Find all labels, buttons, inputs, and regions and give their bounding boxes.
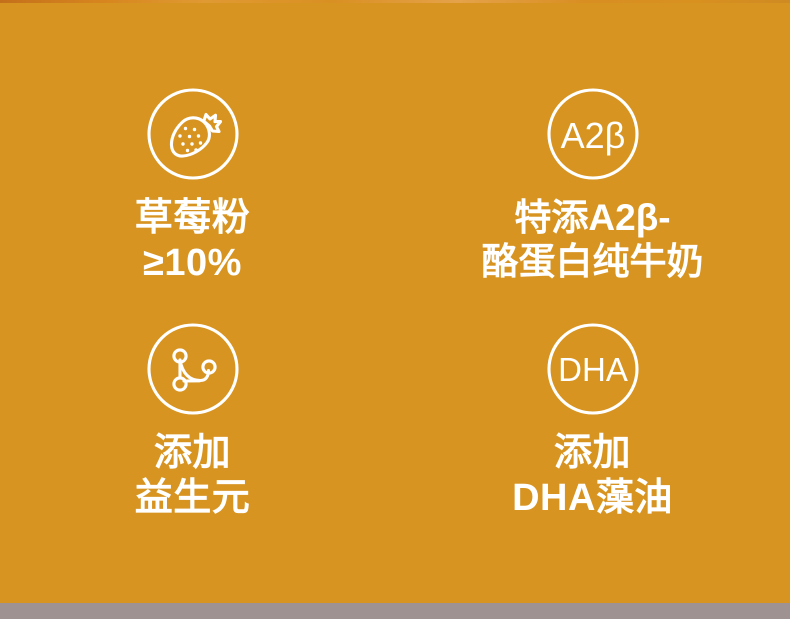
feature-line: DHA藻油 [512, 476, 673, 521]
product-feature-poster: 草莓粉 ≥10% A2β 特添A2β- 酪蛋白纯牛奶 [0, 0, 790, 619]
feature-line: 酪蛋白纯牛奶 [482, 240, 704, 284]
feature-line: ≥10% [135, 241, 251, 286]
a2-beta-icon-text: A2β [560, 115, 625, 156]
feature-line: 草莓粉 [135, 196, 251, 241]
feature-card-strawberry-powder: 草莓粉 ≥10% [0, 88, 390, 323]
dha-icon-text: DHA [558, 351, 628, 388]
feature-card-a2-beta-casein-milk: A2β 特添A2β- 酪蛋白纯牛奶 [395, 88, 790, 323]
feature-card-dha-algae-oil: DHA 添加 DHA藻油 [395, 323, 790, 558]
a2-beta-icon: A2β [547, 88, 639, 180]
feature-line: 特添A2β- [482, 196, 704, 240]
feature-label-strawberry-powder: 草莓粉 ≥10% [135, 196, 251, 286]
feature-grid: 草莓粉 ≥10% A2β 特添A2β- 酪蛋白纯牛奶 [0, 88, 790, 588]
bottom-divider-band [0, 603, 790, 619]
feature-label-a2-beta-casein-milk: 特添A2β- 酪蛋白纯牛奶 [482, 196, 704, 283]
molecule-nodes-icon [147, 323, 239, 415]
strawberry-icon [147, 88, 239, 180]
feature-line: 添加 [135, 431, 251, 476]
feature-label-dha-algae-oil: 添加 DHA藻油 [512, 431, 673, 521]
feature-line: 益生元 [135, 476, 251, 521]
dha-icon: DHA [547, 323, 639, 415]
feature-card-prebiotics: 添加 益生元 [0, 323, 390, 558]
feature-line: 添加 [512, 431, 673, 476]
top-accent-strip [0, 0, 790, 3]
feature-label-prebiotics: 添加 益生元 [135, 431, 251, 521]
